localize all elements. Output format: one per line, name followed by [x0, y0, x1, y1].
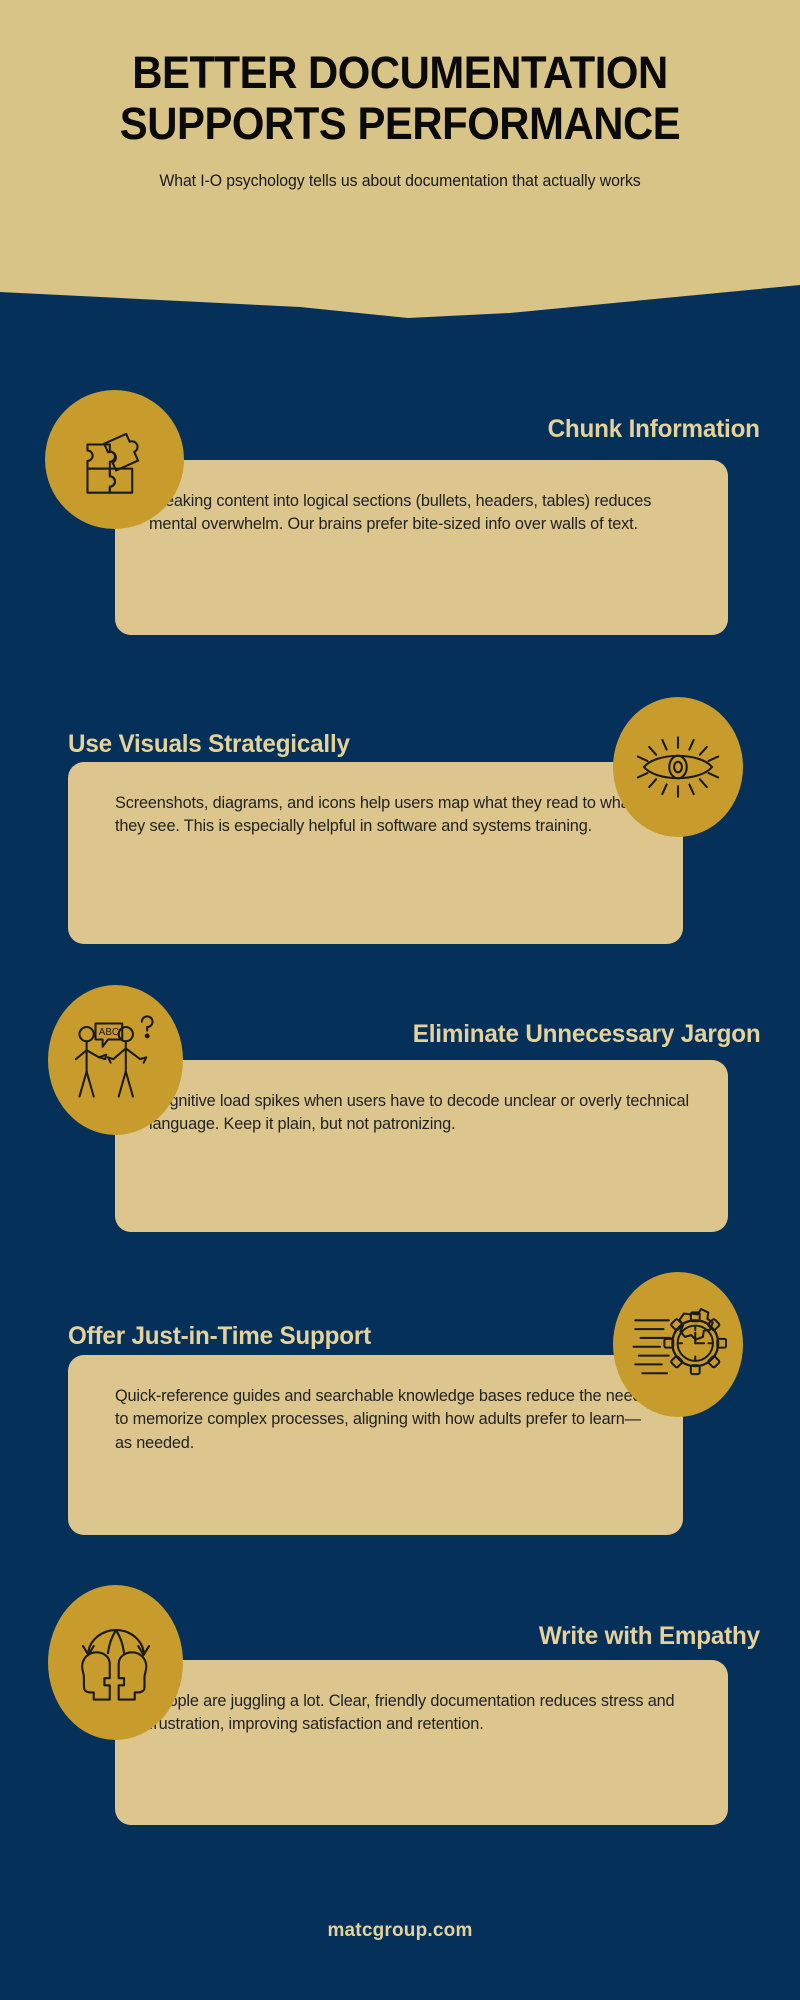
- footer: matcgroup.com: [0, 1920, 800, 1942]
- card-body: Screenshots, diagrams, and icons help us…: [68, 762, 683, 944]
- card-title: Chunk Information: [548, 415, 760, 444]
- two-people-talking-icon: ABC: [48, 985, 183, 1135]
- card-body-text: Quick-reference guides and searchable kn…: [102, 1385, 649, 1455]
- page-subtitle: What I-O psychology tells us about docum…: [54, 172, 745, 191]
- header-text-group: BETTER DOCUMENTATION SUPPORTS PERFORMANC…: [0, 0, 800, 191]
- card-body: Quick-reference guides and searchable kn…: [68, 1355, 683, 1535]
- card-title: Use Visuals Strategically: [68, 730, 350, 759]
- gear-clock-icon: [613, 1272, 743, 1417]
- card-body-text: Screenshots, diagrams, and icons help us…: [102, 792, 649, 839]
- puzzle-pieces-icon: [45, 390, 184, 529]
- infographic-page: BETTER DOCUMENTATION SUPPORTS PERFORMANC…: [0, 0, 800, 2000]
- card-title: Eliminate Unnecessary Jargon: [412, 1020, 760, 1049]
- eye-icon: [613, 697, 743, 837]
- card-body-text: Breaking content into logical sections (…: [149, 490, 694, 537]
- svg-text:ABC: ABC: [98, 1027, 118, 1038]
- two-heads-empathy-icon: [48, 1585, 183, 1740]
- card-title: Write with Empathy: [539, 1622, 760, 1651]
- card-body-text: Cognitive load spikes when users have to…: [149, 1090, 694, 1137]
- page-title: BETTER DOCUMENTATION SUPPORTS PERFORMANC…: [65, 48, 735, 150]
- card-body-text: People are juggling a lot. Clear, friend…: [149, 1690, 694, 1737]
- card-body: People are juggling a lot. Clear, friend…: [115, 1660, 728, 1825]
- footer-website-link[interactable]: matcgroup.com: [327, 1920, 472, 1941]
- card-body: Breaking content into logical sections (…: [115, 460, 728, 635]
- header-banner: BETTER DOCUMENTATION SUPPORTS PERFORMANC…: [0, 0, 800, 330]
- card-title: Offer Just-in-Time Support: [68, 1322, 371, 1351]
- card-body: Cognitive load spikes when users have to…: [115, 1060, 728, 1232]
